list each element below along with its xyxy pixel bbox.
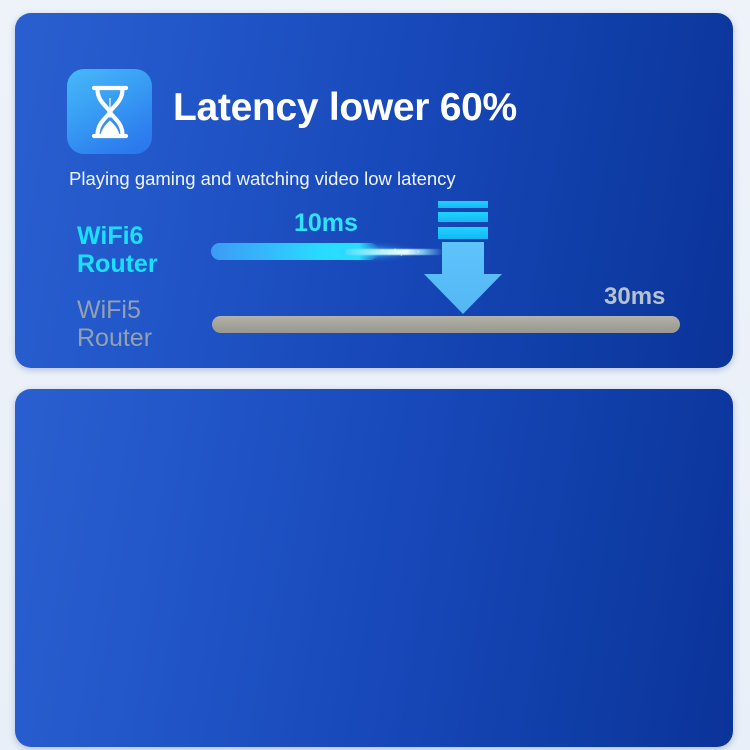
hourglass-icon: [87, 85, 133, 139]
value-label-wifi6-latency: 10ms: [294, 209, 358, 238]
row-label-wifi6-router: WiFi6 Router: [77, 222, 158, 278]
row-label-line2: Router: [77, 250, 158, 278]
hourglass-icon-tile: [67, 69, 152, 154]
bar-wifi5-latency: [212, 316, 680, 333]
bar-wifi6-latency: [211, 243, 379, 260]
subtitle-latency: Playing gaming and watching video low la…: [69, 168, 456, 190]
infographic-page: Latency lower 60% Playing gaming and wat…: [0, 0, 750, 750]
row-label-line2: Router: [77, 324, 152, 352]
page-title-latency: Latency lower 60%: [173, 86, 517, 130]
value-label-wifi5-latency: 30ms: [604, 283, 665, 311]
row-label-line1: WiFi5: [77, 296, 152, 324]
panel-power-consumption: Low power consumption Lower 30% WiFi6 po…: [15, 389, 733, 747]
row-label-wifi5-router: WiFi5 Router: [77, 296, 152, 352]
laser-sparks: [378, 244, 423, 260]
row-label-line1: WiFi6: [77, 222, 158, 250]
panel-latency: Latency lower 60% Playing gaming and wat…: [15, 13, 733, 368]
down-arrow-icon: [422, 201, 504, 316]
